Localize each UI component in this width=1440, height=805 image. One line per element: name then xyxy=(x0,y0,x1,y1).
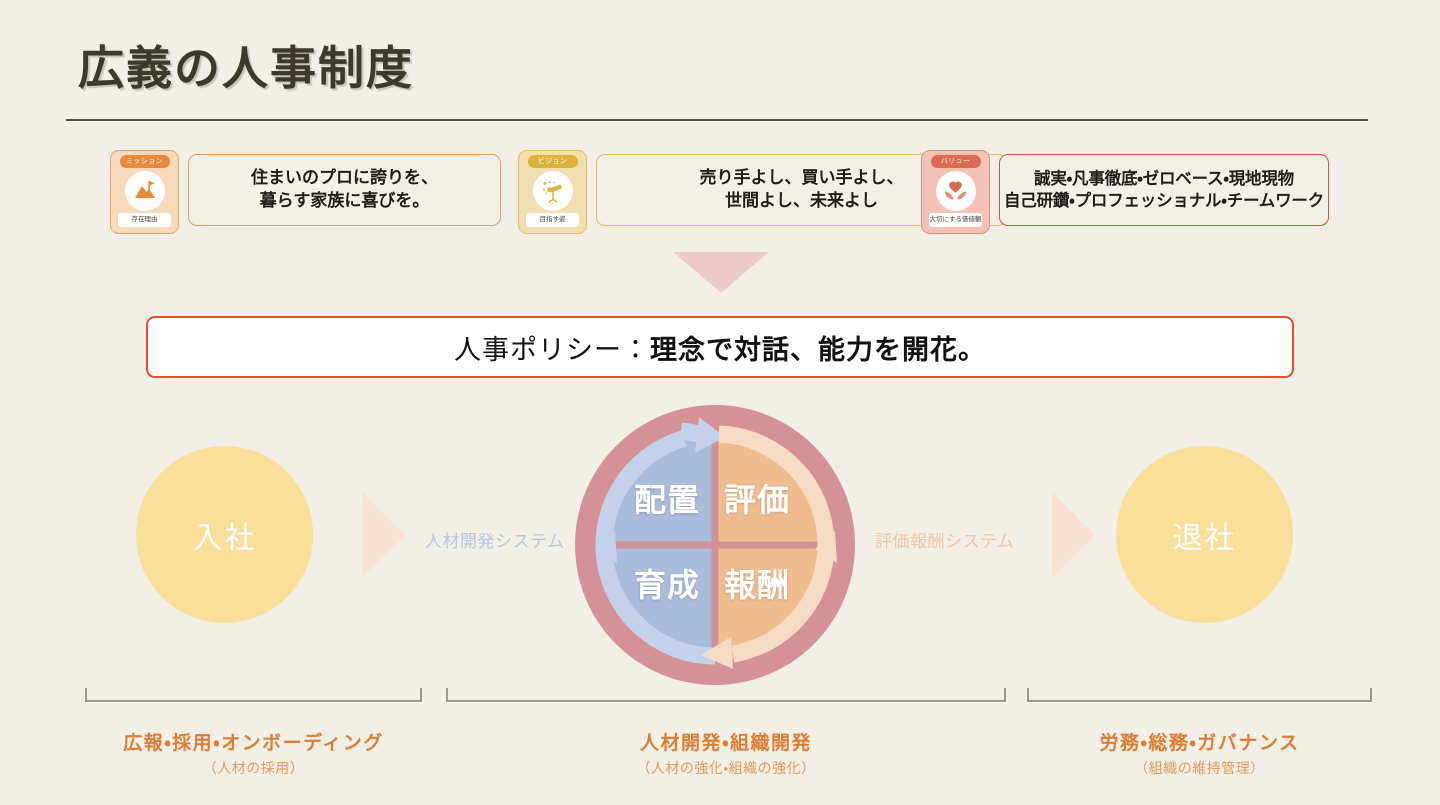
value-text: 誠実・凡事徹底・ゼロベース・現地現物 自己研鑽・プロフェッショナル・チームワーク xyxy=(999,154,1329,226)
flow-label-right: 評価報酬システム xyxy=(875,527,1015,552)
hr-policy-lead: 人事ポリシー： xyxy=(454,328,650,367)
cycle-quadrant-ikusei: 育成 xyxy=(634,560,700,606)
mvv-row: ミッション 存在理由 住まいのプロに誇りを、 暮らす家族に喜びを。 ビジョン xyxy=(0,150,1440,238)
hr-policy-main: 理念で対話、能力を開花。 xyxy=(650,328,986,367)
section-title-3: 労務・総務・ガバナンス xyxy=(1027,728,1372,755)
hr-policy-box: 人事ポリシー：理念で対話、能力を開花。 xyxy=(146,316,1294,378)
flow-label-left: 人材開発システム xyxy=(425,527,565,552)
value-badge-label: バリュー xyxy=(931,155,981,168)
value-badge: バリュー 大切にする価値観 xyxy=(921,150,990,234)
title-divider xyxy=(66,119,1368,121)
flow-circle-exit: 退社 xyxy=(1116,446,1293,623)
section-bracket-2 xyxy=(446,688,1006,702)
cycle-quadrant-hosyu: 報酬 xyxy=(724,560,790,606)
flow-arrow-right-icon xyxy=(1052,492,1096,578)
heart-in-hands-icon xyxy=(936,171,976,211)
page-title: 広義の人事制度 xyxy=(78,32,414,98)
mountain-flag-icon xyxy=(125,171,165,211)
section-subtitle-1: （人材の採用） xyxy=(85,758,422,778)
cycle-svg xyxy=(573,403,857,687)
section-title-1: 広報・採用・オンボーディング xyxy=(85,728,422,755)
vision-badge-sub: 目指す姿 xyxy=(526,213,579,227)
section-bracket-3 xyxy=(1027,688,1372,702)
section-subtitle-2: （人材の強化・組織の強化） xyxy=(446,758,1006,778)
value-badge-sub: 大切にする価値観 xyxy=(929,213,982,227)
vision-badge: ビジョン xyxy=(518,150,587,234)
telescope-icon xyxy=(533,171,573,211)
vision-badge-label: ビジョン xyxy=(528,155,578,168)
flow-circle-entry: 入社 xyxy=(136,446,313,623)
section-caption-1: 広報・採用・オンボーディング （人材の採用） xyxy=(85,728,422,778)
section-caption-2: 人材開発・組織開発 （人材の強化・組織の強化） xyxy=(446,728,1006,778)
section-bracket-1 xyxy=(85,688,422,702)
section-caption-3: 労務・総務・ガバナンス （組織の維持管理） xyxy=(1027,728,1372,778)
slide-canvas: 広義の人事制度 ミッション 存在理由 住まいのプロに誇りを、 暮らす家族に喜びを… xyxy=(0,0,1440,805)
flow-arrow-left-icon xyxy=(362,492,406,578)
cycle-quadrant-hyoka: 評価 xyxy=(724,475,790,521)
mission-badge: ミッション 存在理由 xyxy=(110,150,179,234)
down-arrow-icon xyxy=(673,252,769,293)
section-title-2: 人材開発・組織開発 xyxy=(446,728,1006,755)
mission-text: 住まいのプロに誇りを、 暮らす家族に喜びを。 xyxy=(188,154,501,226)
cycle-quadrant-haichi: 配置 xyxy=(634,475,700,521)
hr-cycle-diagram: 配置 評価 育成 報酬 xyxy=(573,403,857,687)
mission-badge-sub: 存在理由 xyxy=(118,213,171,227)
section-subtitle-3: （組織の維持管理） xyxy=(1027,758,1372,778)
mission-badge-label: ミッション xyxy=(120,155,170,168)
